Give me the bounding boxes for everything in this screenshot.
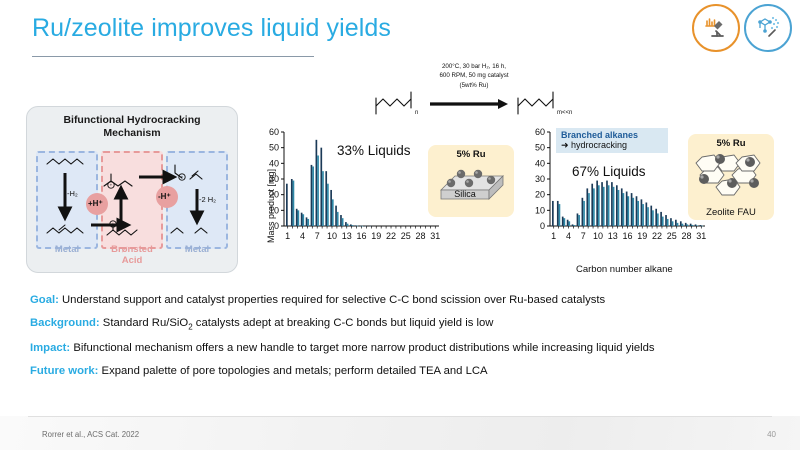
- svg-text:4: 4: [566, 231, 571, 241]
- svg-text:20: 20: [535, 190, 545, 200]
- mechanism-label-metal-left: Metal: [36, 244, 98, 266]
- svg-text:19: 19: [637, 231, 647, 241]
- reactant-subscript: n: [415, 110, 418, 116]
- footer-page-number: 40: [767, 430, 776, 439]
- mechanism-panel-labels: Metal Brønsted Acid Metal: [36, 244, 228, 266]
- svg-text:40: 40: [535, 158, 545, 168]
- svg-text:30: 30: [535, 174, 545, 184]
- logo-group: [692, 4, 792, 52]
- svg-text:25: 25: [667, 231, 677, 241]
- zeolite-ru-loading: 5% Ru: [716, 138, 745, 149]
- bullet-background-text: Standard Ru/SiO2 catalysts adept at brea…: [100, 317, 494, 329]
- bullet-goal-text: Understand support and catalyst properti…: [59, 294, 605, 306]
- bullet-impact-label: Impact:: [30, 342, 70, 354]
- svg-text:40: 40: [269, 158, 279, 168]
- svg-text:60: 60: [535, 127, 545, 137]
- bullet-background: Background: Standard Ru/SiO2 catalysts a…: [30, 315, 778, 333]
- bullet-future-work-text: Expand palette of pore topologies and me…: [98, 365, 487, 377]
- svg-text:10: 10: [327, 231, 337, 241]
- svg-text:31: 31: [430, 231, 440, 241]
- svg-text:+: +: [181, 175, 184, 180]
- page-title: Ru/zeolite improves liquid yields: [32, 14, 391, 43]
- mechanism-label-protonation: +H⁺: [88, 199, 103, 208]
- footer-divider: [28, 416, 772, 417]
- zeolite-chart-xlabel: Carbon number alkane: [576, 264, 673, 275]
- callout-line1: Branched alkanes: [561, 130, 663, 140]
- slide-canvas: Ru/zeolite improves liquid yields: [0, 0, 800, 450]
- svg-text:16: 16: [356, 231, 366, 241]
- branched-alkanes-callout: Branched alkanes ➜ hydrocracking: [556, 128, 668, 153]
- svg-text:4: 4: [300, 231, 305, 241]
- svg-text:60: 60: [269, 127, 279, 137]
- svg-text:16: 16: [622, 231, 632, 241]
- mechanism-label-metal-right: Metal: [166, 244, 228, 266]
- svg-text:28: 28: [682, 231, 692, 241]
- svg-text:1: 1: [551, 231, 556, 241]
- silica-liquids-percent: 33% Liquids: [337, 143, 411, 158]
- bullet-impact-text: Bifunctional mechanism offers a new hand…: [70, 342, 654, 354]
- svg-text:22: 22: [652, 231, 662, 241]
- bullet-background-label: Background:: [30, 317, 100, 329]
- title-divider: [32, 56, 314, 57]
- svg-text:22: 22: [386, 231, 396, 241]
- molecular-network-logo: [744, 4, 792, 52]
- silica-slab-icon: Silica: [431, 160, 511, 206]
- conditions-line1: 200°C, 30 bar H₂, 16 h,: [368, 62, 580, 71]
- mechanism-label-bronsted-acid: Brønsted Acid: [101, 244, 163, 266]
- svg-text:50: 50: [269, 143, 279, 153]
- silica-chart-ylabel: Mass product [mg]: [266, 169, 276, 243]
- footer-citation: Rorrer et al., ACS Cat. 2022: [42, 430, 139, 439]
- svg-text:28: 28: [416, 231, 426, 241]
- silica-catalyst: 5% Ru Silica: [428, 145, 514, 217]
- svg-text:13: 13: [342, 231, 352, 241]
- reaction-conditions: 200°C, 30 bar H₂, 16 h, 600 RPM, 50 mg c…: [368, 62, 580, 90]
- svg-text:31: 31: [696, 231, 706, 241]
- callout-line2: ➜ hydrocracking: [561, 140, 663, 151]
- zeolite-framework-icon: [692, 149, 770, 207]
- svg-text:10: 10: [535, 205, 545, 215]
- bullet-impact: Impact: Bifunctional mechanism offers a …: [30, 340, 778, 356]
- svg-text:10: 10: [593, 231, 603, 241]
- product-subscript: m<<n: [557, 110, 572, 116]
- svg-text:19: 19: [371, 231, 381, 241]
- bullet-goal-label: Goal:: [30, 294, 59, 306]
- svg-text:0: 0: [540, 221, 545, 231]
- mechanism-label-hydrogenation: -2 H₂: [199, 195, 216, 204]
- mechanism-label-deprotonation: -H⁺: [158, 192, 171, 201]
- mechanism-card: Bifunctional Hydrocracking Mechanism: [26, 106, 238, 273]
- zeolite-catalyst: 5% Ru Zeolite FAU: [688, 134, 774, 220]
- conditions-line2: 600 RPM, 50 mg catalyst: [368, 71, 580, 80]
- svg-text:50: 50: [535, 143, 545, 153]
- microscope-logo: [692, 4, 740, 52]
- svg-text:1: 1: [285, 231, 290, 241]
- mechanism-label-dehydrogenation: -H₂: [67, 189, 78, 198]
- zeolite-liquids-percent: 67% Liquids: [572, 164, 646, 179]
- bullet-future-work-label: Future work:: [30, 365, 98, 377]
- svg-text:7: 7: [315, 231, 320, 241]
- bullet-list: Goal: Understand support and catalyst pr…: [30, 292, 778, 386]
- reaction-scheme-svg: n m<<n: [368, 88, 580, 120]
- svg-text:7: 7: [581, 231, 586, 241]
- svg-text:+: +: [110, 183, 113, 188]
- svg-text:Silica: Silica: [454, 189, 476, 199]
- svg-text:13: 13: [608, 231, 618, 241]
- silica-ru-loading: 5% Ru: [456, 149, 485, 160]
- svg-text:25: 25: [401, 231, 411, 241]
- zeolite-support-label: Zeolite FAU: [706, 207, 756, 218]
- bullet-goal: Goal: Understand support and catalyst pr…: [30, 292, 778, 308]
- bullet-future-work: Future work: Expand palette of pore topo…: [30, 363, 778, 379]
- reaction-scheme: 200°C, 30 bar H₂, 16 h, 600 RPM, 50 mg c…: [368, 62, 580, 120]
